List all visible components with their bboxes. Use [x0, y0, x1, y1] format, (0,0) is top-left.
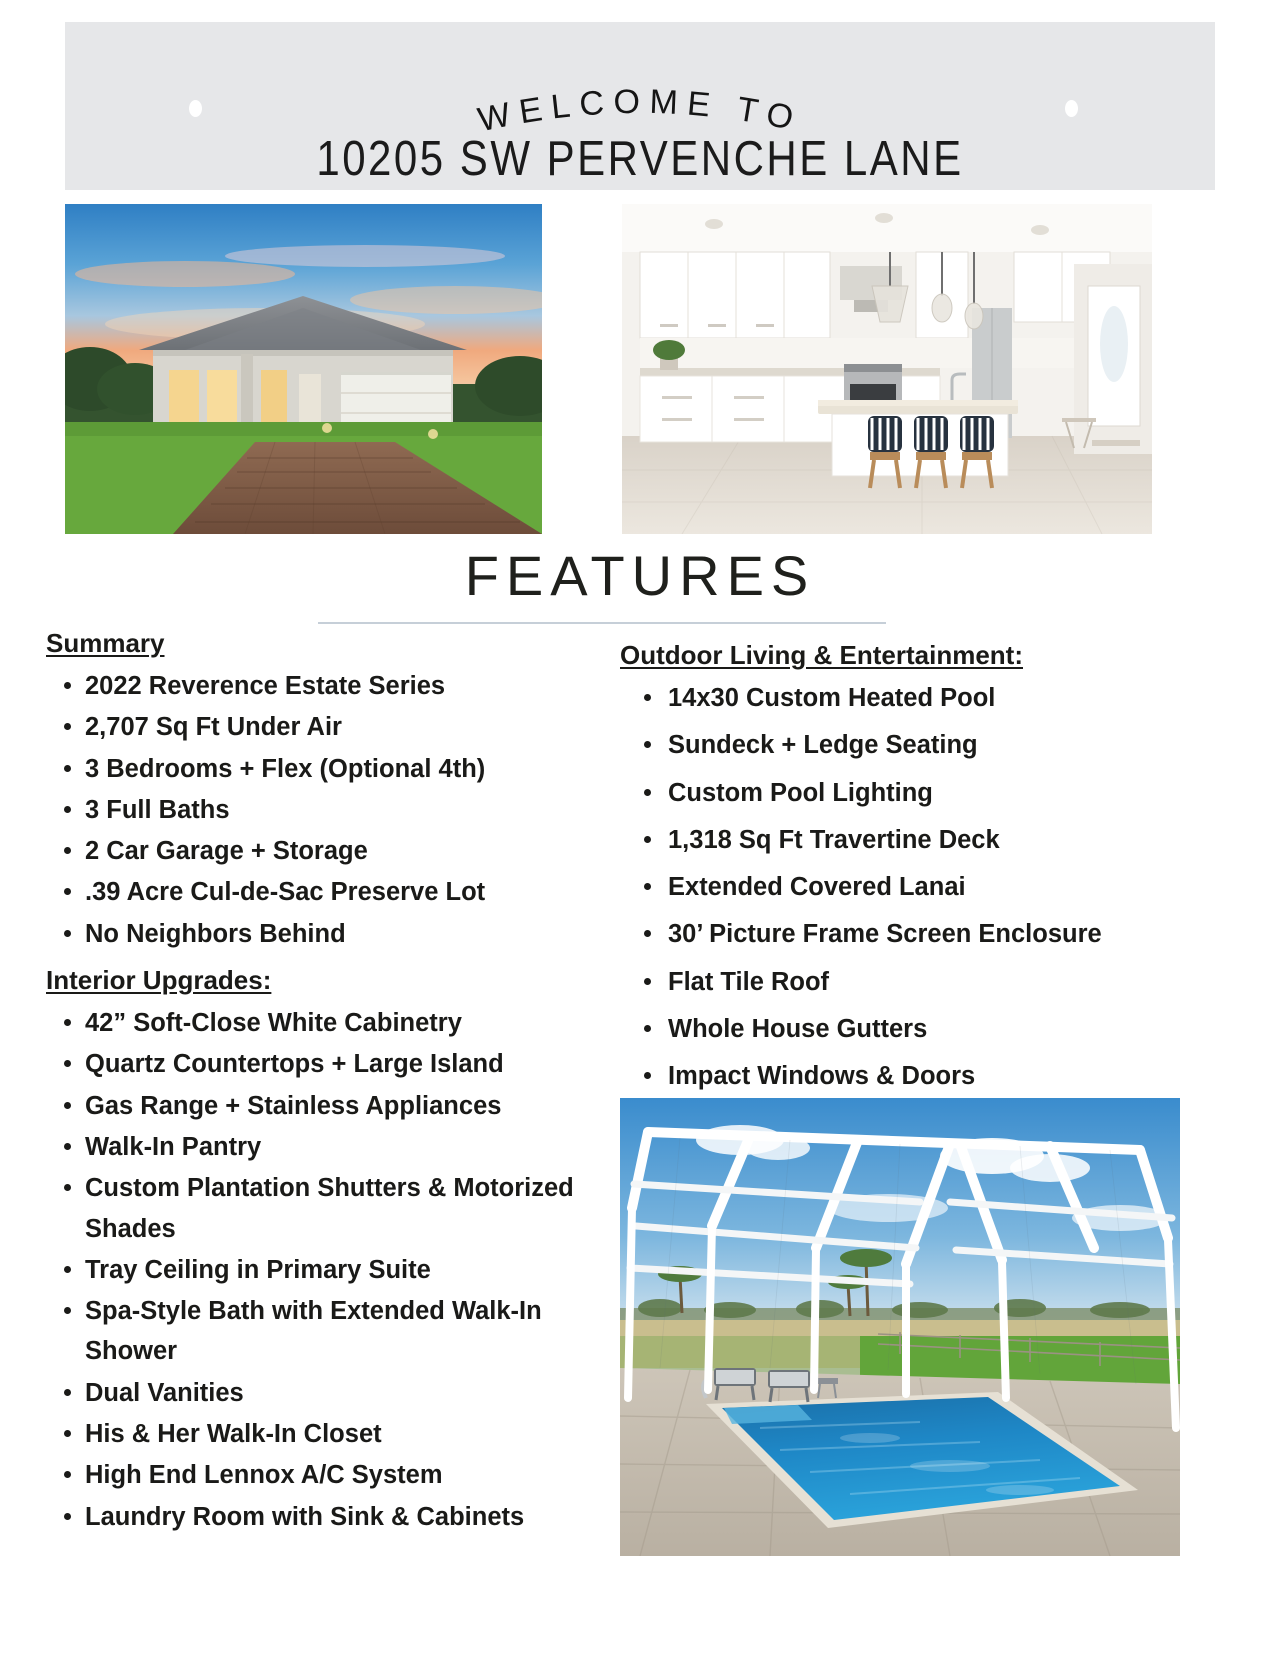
list-item: Laundry Room with Sink & Cabinets [38, 1497, 613, 1537]
group-title-interior-upgrades: Interior Upgrades: [46, 960, 613, 1001]
exterior-front-photo [65, 204, 542, 534]
features-left-column: Summary 2022 Reverence Estate Series 2,7… [38, 623, 613, 1543]
summary-list: 2022 Reverence Estate Series 2,707 Sq Ft… [38, 666, 613, 954]
interior-upgrades-list: 42” Soft-Close White Cabinetry Quartz Co… [38, 1003, 613, 1537]
list-item: .39 Acre Cul-de-Sac Preserve Lot [38, 872, 613, 912]
outdoor-living-list: 14x30 Custom Heated Pool Sundeck + Ledge… [612, 678, 1212, 1097]
header-banner: WELCOME TO 10205 SW PERVENCHE LANE [65, 22, 1215, 190]
list-item: 2 Car Garage + Storage [38, 831, 613, 871]
list-item: Extended Covered Lanai [612, 867, 1212, 907]
list-item: Dual Vanities [38, 1373, 613, 1413]
group-title-outdoor-living: Outdoor Living & Entertainment: [620, 635, 1212, 676]
list-item: Quartz Countertops + Large Island [38, 1044, 613, 1084]
list-item: Whole House Gutters [612, 1009, 1212, 1049]
group-title-summary: Summary [46, 623, 613, 664]
list-item: Sundeck + Ledge Seating [612, 725, 1212, 765]
list-item: Impact Windows & Doors [612, 1056, 1212, 1096]
list-item: 3 Full Baths [38, 790, 613, 830]
list-item: 30’ Picture Frame Screen Enclosure [612, 914, 1212, 954]
pool-photo [620, 1098, 1180, 1556]
list-item: No Neighbors Behind [38, 914, 613, 954]
list-item: 2,707 Sq Ft Under Air [38, 707, 613, 747]
list-item: Tray Ceiling in Primary Suite [38, 1250, 613, 1290]
list-item: 1,318 Sq Ft Travertine Deck [612, 820, 1212, 860]
list-item: Custom Pool Lighting [612, 773, 1212, 813]
list-item: Spa-Style Bath with Extended Walk-In Sho… [38, 1291, 613, 1372]
list-item: Walk-In Pantry [38, 1127, 613, 1167]
list-item: Custom Plantation Shutters & Motorized S… [38, 1168, 613, 1249]
property-address: 10205 SW PERVENCHE LANE [65, 130, 1215, 187]
features-right-column: Outdoor Living & Entertainment: 14x30 Cu… [612, 635, 1212, 1104]
features-heading: FEATURES [0, 543, 1280, 608]
list-item: High End Lennox A/C System [38, 1455, 613, 1495]
list-item: 3 Bedrooms + Flex (Optional 4th) [38, 749, 613, 789]
list-item: 42” Soft-Close White Cabinetry [38, 1003, 613, 1043]
list-item: Gas Range + Stainless Appliances [38, 1086, 613, 1126]
list-item: Flat Tile Roof [612, 962, 1212, 1002]
kitchen-photo [622, 204, 1152, 534]
list-item: 2022 Reverence Estate Series [38, 666, 613, 706]
list-item: 14x30 Custom Heated Pool [612, 678, 1212, 718]
list-item: His & Her Walk-In Closet [38, 1414, 613, 1454]
